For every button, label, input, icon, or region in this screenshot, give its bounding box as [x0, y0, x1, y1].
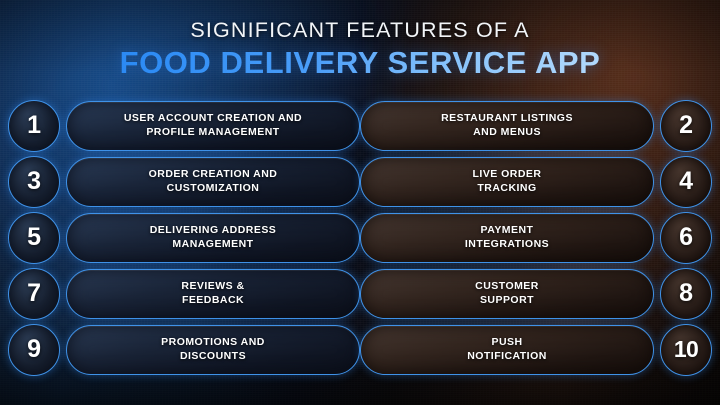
feature-pill[interactable]: ORDER CREATION AND CUSTOMIZATION [66, 157, 360, 207]
feature-item-4[interactable]: LIVE ORDER TRACKING 4 [360, 156, 712, 207]
feature-number-badge: 9 [8, 324, 60, 376]
feature-label: ORDER CREATION AND CUSTOMIZATION [149, 168, 278, 196]
feature-pill[interactable]: DELIVERING ADDRESS MANAGEMENT [66, 213, 360, 263]
feature-item-3[interactable]: 3 ORDER CREATION AND CUSTOMIZATION [8, 156, 360, 207]
feature-pill[interactable]: PAYMENT INTEGRATIONS [360, 213, 654, 263]
feature-item-2[interactable]: RESTAURANT LISTINGS AND MENUS 2 [360, 100, 712, 151]
feature-number-badge: 4 [660, 156, 712, 208]
feature-item-10[interactable]: PUSH NOTIFICATION 10 [360, 324, 712, 375]
feature-pill[interactable]: LIVE ORDER TRACKING [360, 157, 654, 207]
feature-item-9[interactable]: 9 PROMOTIONS AND DISCOUNTS [8, 324, 360, 375]
feature-pill[interactable]: USER ACCOUNT CREATION AND PROFILE MANAGE… [66, 101, 360, 151]
feature-number-badge: 2 [660, 100, 712, 152]
infographic-slide: SIGNIFICANT FEATURES OF A FOOD DELIVERY … [0, 0, 720, 405]
feature-item-5[interactable]: 5 DELIVERING ADDRESS MANAGEMENT [8, 212, 360, 263]
feature-label: RESTAURANT LISTINGS AND MENUS [441, 112, 573, 140]
feature-label: PUSH NOTIFICATION [467, 336, 547, 364]
feature-pill[interactable]: CUSTOMER SUPPORT [360, 269, 654, 319]
feature-label: CUSTOMER SUPPORT [475, 280, 539, 308]
feature-pill[interactable]: REVIEWS & FEEDBACK [66, 269, 360, 319]
feature-row: 9 PROMOTIONS AND DISCOUNTS PUSH NOTIFICA… [8, 324, 712, 375]
feature-number-badge: 7 [8, 268, 60, 320]
feature-label: REVIEWS & FEEDBACK [181, 280, 244, 308]
feature-row: 5 DELIVERING ADDRESS MANAGEMENT PAYMENT … [8, 212, 712, 263]
feature-number-badge: 8 [660, 268, 712, 320]
feature-number-badge: 10 [660, 324, 712, 376]
feature-item-1[interactable]: 1 USER ACCOUNT CREATION AND PROFILE MANA… [8, 100, 360, 151]
feature-label: PAYMENT INTEGRATIONS [465, 224, 549, 252]
feature-item-8[interactable]: CUSTOMER SUPPORT 8 [360, 268, 712, 319]
feature-number-badge: 6 [660, 212, 712, 264]
feature-label: USER ACCOUNT CREATION AND PROFILE MANAGE… [124, 112, 302, 140]
title-line-secondary: FOOD DELIVERY SERVICE APP [0, 46, 720, 81]
feature-row: 7 REVIEWS & FEEDBACK CUSTOMER SUPPORT 8 [8, 268, 712, 319]
title-line-primary: SIGNIFICANT FEATURES OF A [0, 18, 720, 43]
feature-row: 3 ORDER CREATION AND CUSTOMIZATION LIVE … [8, 156, 712, 207]
feature-row: 1 USER ACCOUNT CREATION AND PROFILE MANA… [8, 100, 712, 151]
feature-label: PROMOTIONS AND DISCOUNTS [161, 336, 265, 364]
feature-list: 1 USER ACCOUNT CREATION AND PROFILE MANA… [8, 100, 712, 375]
feature-label: LIVE ORDER TRACKING [473, 168, 542, 196]
feature-item-7[interactable]: 7 REVIEWS & FEEDBACK [8, 268, 360, 319]
feature-label: DELIVERING ADDRESS MANAGEMENT [150, 224, 277, 252]
feature-pill[interactable]: RESTAURANT LISTINGS AND MENUS [360, 101, 654, 151]
feature-pill[interactable]: PROMOTIONS AND DISCOUNTS [66, 325, 360, 375]
feature-number-badge: 3 [8, 156, 60, 208]
page-title: SIGNIFICANT FEATURES OF A FOOD DELIVERY … [0, 18, 720, 80]
feature-number-badge: 5 [8, 212, 60, 264]
feature-pill[interactable]: PUSH NOTIFICATION [360, 325, 654, 375]
feature-number-badge: 1 [8, 100, 60, 152]
feature-item-6[interactable]: PAYMENT INTEGRATIONS 6 [360, 212, 712, 263]
